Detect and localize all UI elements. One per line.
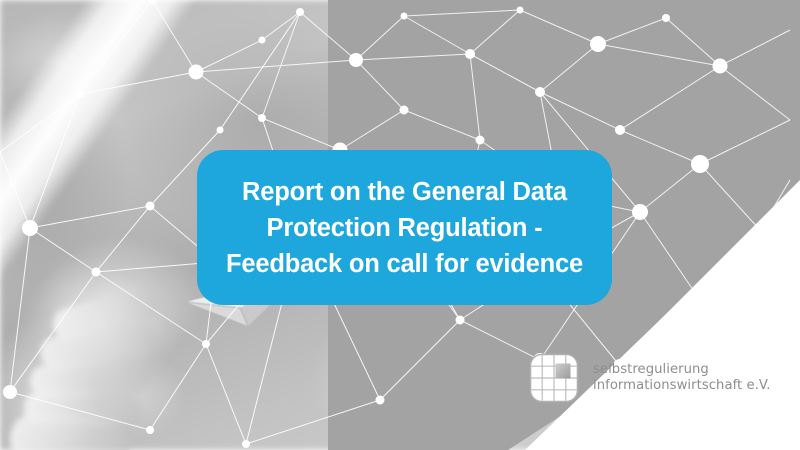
title-line-1: Report on the General Data — [242, 174, 567, 210]
title-line-2: Protection Regulation - — [267, 210, 543, 246]
logo-line-2: informationswirtschaft e.V. — [593, 378, 771, 395]
organization-logo: selbstregulierung informationswirtschaft… — [528, 352, 771, 404]
presentation-banner: Report on the General Data Protection Re… — [0, 0, 800, 450]
logo-line-1: selbstregulierung — [593, 362, 771, 379]
grid-square-logo-icon — [528, 352, 580, 404]
title-line-3: Feedback on call for evidence — [226, 246, 583, 282]
logo-wordmark: selbstregulierung informationswirtschaft… — [593, 362, 771, 395]
title-card: Report on the General Data Protection Re… — [197, 150, 612, 305]
